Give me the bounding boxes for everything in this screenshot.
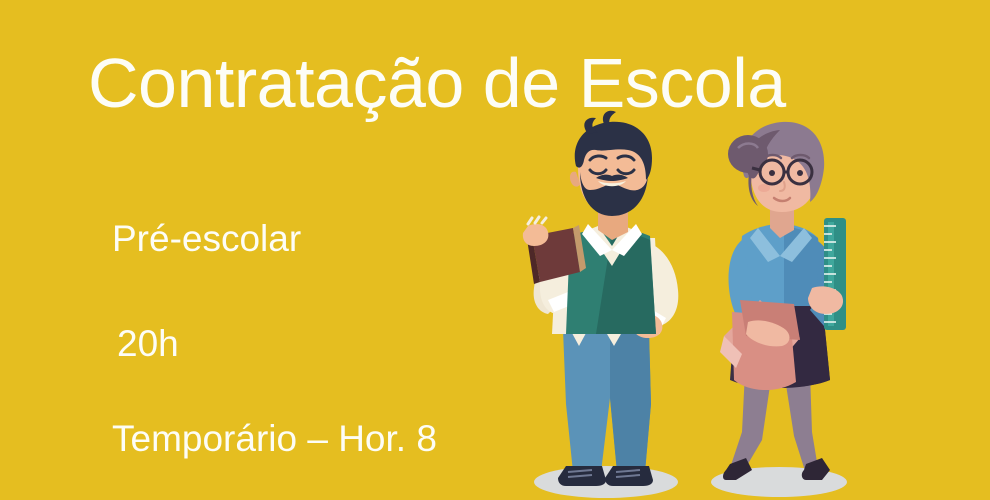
page-title: Contratação de Escola [88, 48, 786, 118]
detail-line-hours: 20h [117, 325, 179, 362]
poster-canvas: Contratação de Escola Pré-escolar 20h Te… [0, 0, 990, 500]
detail-line-contract: Temporário – Hor. 8 [112, 420, 437, 457]
detail-line-level: Pré-escolar [112, 220, 301, 257]
